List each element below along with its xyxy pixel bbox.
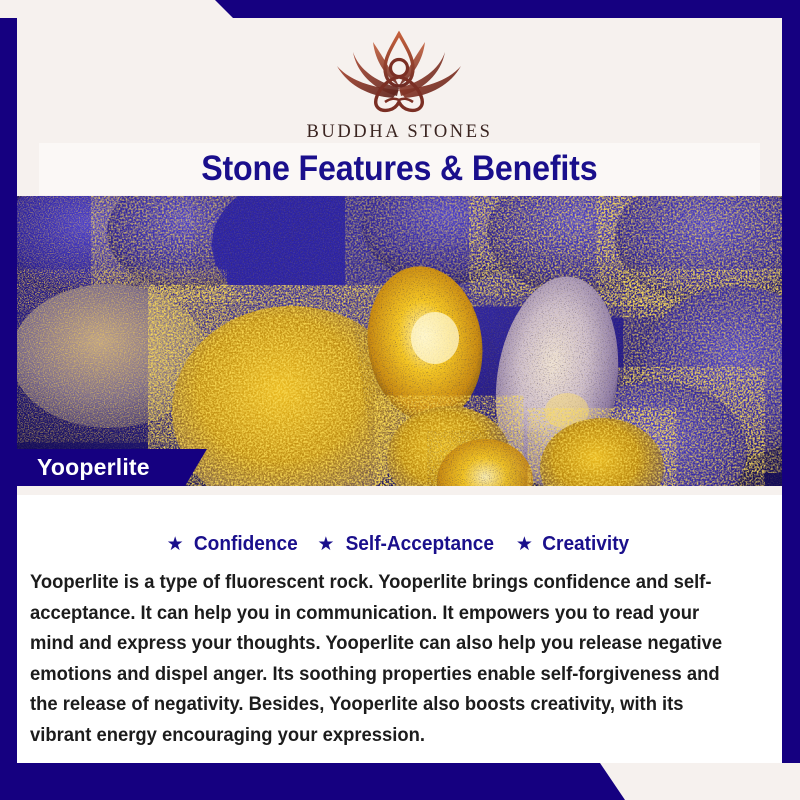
bottom-border-decoration xyxy=(0,763,800,800)
keyword-label: Self-Acceptance xyxy=(346,532,494,556)
page-title: Stone Features & Benefits xyxy=(201,149,597,189)
top-border-decoration xyxy=(0,0,800,18)
star-icon: ★ xyxy=(167,535,184,554)
yooperlite-stones-photo xyxy=(17,196,782,486)
right-border-decoration xyxy=(782,18,800,763)
lotus-meditation-icon xyxy=(315,30,483,116)
keyword-label: Creativity xyxy=(542,532,629,556)
keyword-item: ★ Self-Acceptance xyxy=(317,532,500,556)
panel-top-divider xyxy=(17,486,782,495)
star-icon: ★ xyxy=(317,535,334,554)
stone-feature-card: BUDDHA STONES Stone Features & Benefits xyxy=(0,0,800,800)
stone-name: Yooperlite xyxy=(37,454,150,481)
star-icon: ★ xyxy=(516,535,533,554)
keyword-item: ★ Creativity xyxy=(516,532,632,556)
stone-name-badge: Yooperlite xyxy=(17,449,207,486)
benefit-keywords: ★ Confidence ★ Self-Acceptance ★ Creativ… xyxy=(17,532,782,556)
content-panel: ★ Confidence ★ Self-Acceptance ★ Creativ… xyxy=(17,486,782,763)
card-header: BUDDHA STONES Stone Features & Benefits xyxy=(17,18,782,196)
brand-logo: BUDDHA STONES xyxy=(306,30,492,143)
keyword-item: ★ Confidence xyxy=(167,532,302,556)
brand-name: BUDDHA STONES xyxy=(306,122,492,143)
keyword-label: Confidence xyxy=(194,532,298,556)
stone-description: Yooperlite is a type of fluorescent rock… xyxy=(30,568,748,751)
page-title-band: Stone Features & Benefits xyxy=(39,143,760,195)
left-border-decoration xyxy=(0,18,17,763)
